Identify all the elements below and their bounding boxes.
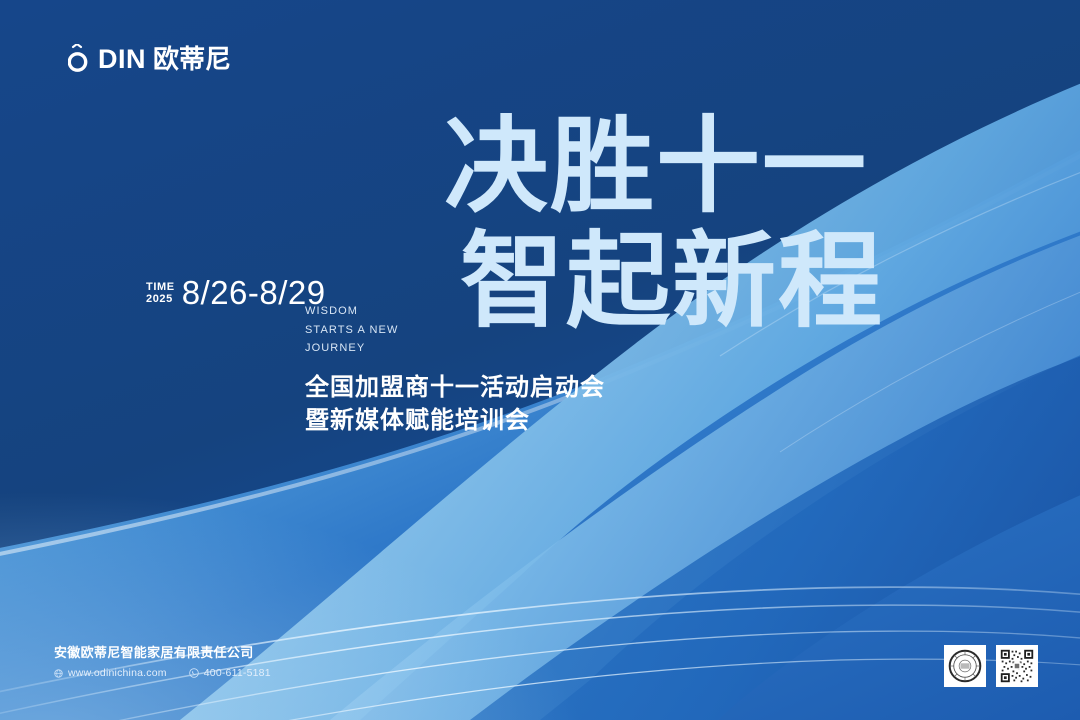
event-poster: DIN 欧蒂尼 决胜十一 智起新程 TIME 2025 8/26-8/29 WI… xyxy=(0,0,1080,720)
event-subtitle: 全国加盟商十一活动启动会 暨新媒体赋能培训会 xyxy=(305,371,605,437)
brand-logo: DIN 欧蒂尼 xyxy=(68,44,231,74)
circular-seal-icon xyxy=(947,648,983,684)
globe-icon xyxy=(54,669,63,678)
year-label: 2025 xyxy=(146,293,175,305)
phone-icon xyxy=(189,668,199,678)
contact-row: www.odinichina.com 400-611-5181 xyxy=(54,667,271,679)
time-label-group: TIME 2025 xyxy=(146,281,175,305)
qr-code-icon xyxy=(999,648,1035,684)
phone-contact: 400-611-5181 xyxy=(189,667,271,679)
website-contact: www.odinichina.com xyxy=(54,667,167,679)
phone-text: 400-611-5181 xyxy=(204,667,271,679)
odin-o-circumflex-mark xyxy=(68,44,94,74)
logo-chinese-text: 欧蒂尼 xyxy=(153,46,231,72)
event-date-block: TIME 2025 8/26-8/29 xyxy=(146,276,326,310)
qr-code[interactable] xyxy=(996,645,1038,687)
tagline-line-1: WISDOM xyxy=(305,302,398,321)
website-text: www.odinichina.com xyxy=(68,667,167,679)
tagline-line-2: STARTS A NEW xyxy=(305,321,398,340)
headline-calligraphy: 决胜十一 智起新程 xyxy=(444,112,914,342)
poster-background xyxy=(0,0,1080,720)
logo-latin-text: DIN xyxy=(98,46,146,73)
code-tiles xyxy=(944,645,1038,687)
english-tagline: WISDOM STARTS A NEW JOURNEY xyxy=(305,302,398,358)
company-name: 安徽欧蒂尼智能家居有限责任公司 xyxy=(54,645,271,661)
tagline-line-3: JOURNEY xyxy=(305,339,398,358)
footer-info: 安徽欧蒂尼智能家居有限责任公司 www.odinichina.com 400-6… xyxy=(54,645,271,679)
subtitle-line-2: 暨新媒体赋能培训会 xyxy=(305,404,605,437)
headline-line-2: 智起新程 xyxy=(460,219,884,342)
headline-line-1: 决胜十一 xyxy=(444,112,868,227)
subtitle-line-1: 全国加盟商十一活动启动会 xyxy=(305,371,605,404)
seal-badge[interactable] xyxy=(944,645,986,687)
time-label: TIME xyxy=(146,281,175,293)
